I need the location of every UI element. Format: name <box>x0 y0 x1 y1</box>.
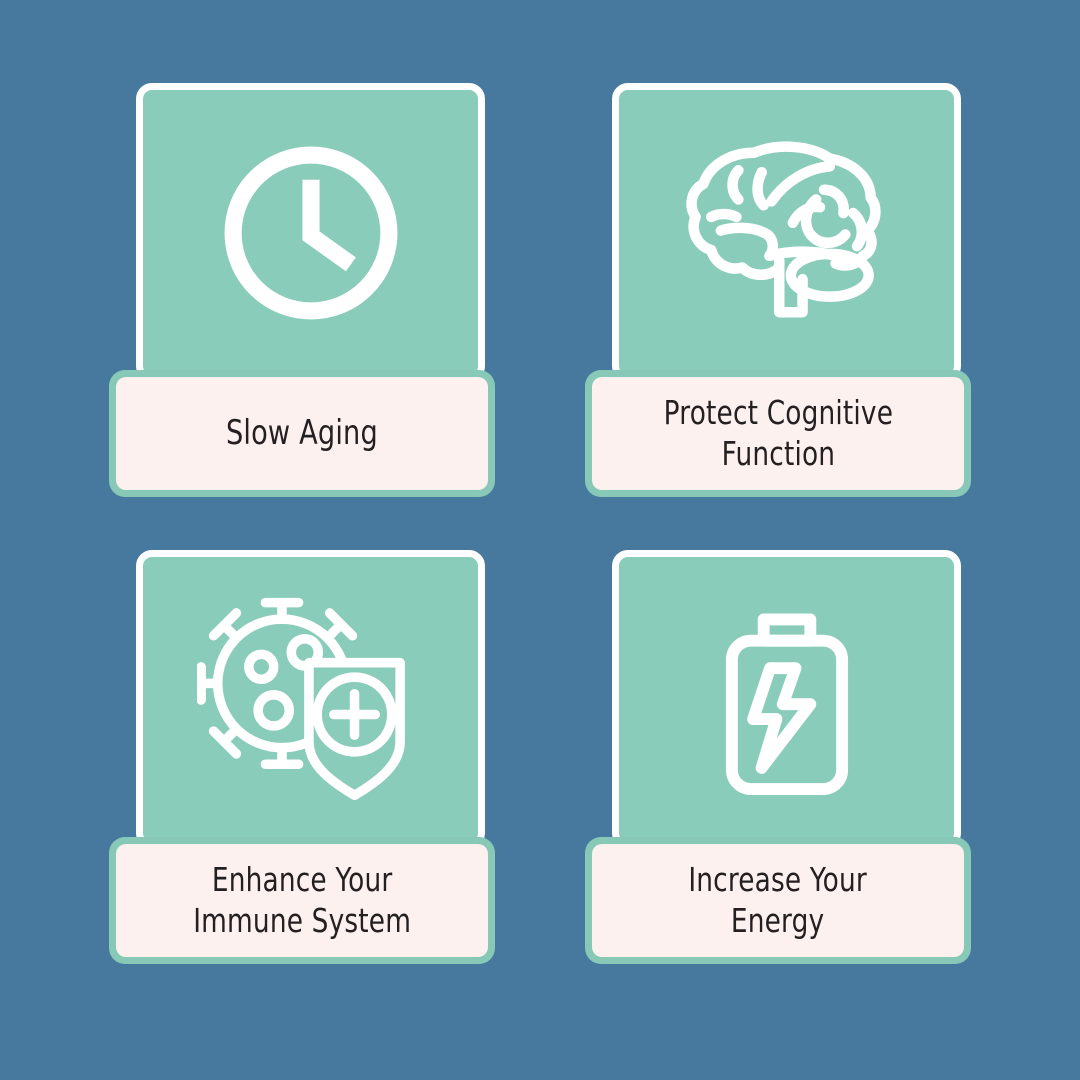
benefit-card-protect-cognitive-function[interactable]: Protect Cognitive Function <box>585 83 971 497</box>
benefit-label-protect-cognitive-function: Protect Cognitive Function <box>663 393 892 474</box>
label-plate-enhance-your-immune-system: Enhance Your Immune System <box>109 837 495 964</box>
benefit-label-enhance-your-immune-system: Enhance Your Immune System <box>193 860 411 941</box>
brain-icon <box>682 135 892 330</box>
benefit-label-increase-your-energy: Increase Your Energy <box>689 860 868 941</box>
label-plate-slow-aging: Slow Aging <box>109 370 495 497</box>
label-inner-protect-cognitive-function: Protect Cognitive Function <box>592 377 964 490</box>
label-plate-protect-cognitive-function: Protect Cognitive Function <box>585 370 971 497</box>
icon-panel-slow-aging <box>136 83 485 382</box>
label-inner-enhance-your-immune-system: Enhance Your Immune System <box>116 844 488 957</box>
benefit-card-slow-aging[interactable]: Slow Aging <box>109 83 495 497</box>
icon-panel-enhance-your-immune-system <box>136 550 485 849</box>
benefit-label-slow-aging: Slow Aging <box>226 413 378 454</box>
clock-icon <box>216 138 406 328</box>
label-inner-increase-your-energy: Increase Your Energy <box>592 844 964 957</box>
battery-bolt-icon <box>708 594 866 806</box>
icon-panel-protect-cognitive-function <box>612 83 961 382</box>
benefit-card-increase-your-energy[interactable]: Increase Your Energy <box>585 550 971 964</box>
label-inner-slow-aging: Slow Aging <box>116 377 488 490</box>
icon-panel-increase-your-energy <box>612 550 961 849</box>
benefits-board: Slow Aging <box>0 0 1080 1080</box>
benefit-card-enhance-your-immune-system[interactable]: Enhance Your Immune System <box>109 550 495 964</box>
virus-shield-icon <box>197 596 425 804</box>
label-plate-increase-your-energy: Increase Your Energy <box>585 837 971 964</box>
